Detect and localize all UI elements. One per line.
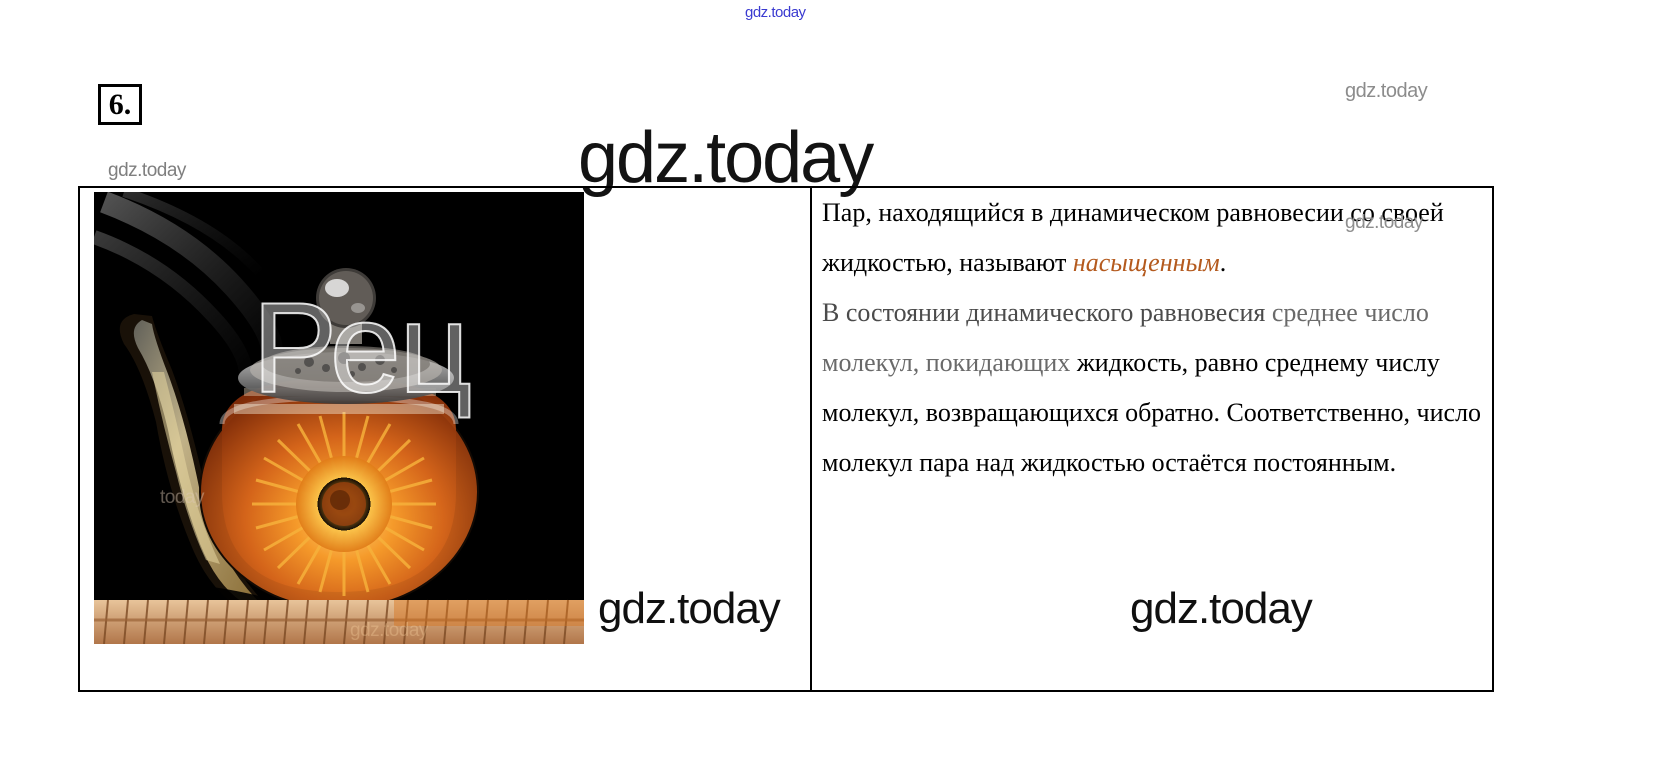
answer-paragraph-1: Пар, находящийся в динамическом равновес…	[822, 188, 1490, 288]
answer-paragraph-2: В состоянии динамического равновесия сре…	[822, 288, 1490, 488]
watermark-top: gdz.today	[745, 4, 806, 21]
watermark-above-photo: gdz.today	[108, 160, 186, 182]
answer-term-period: .	[1220, 248, 1227, 277]
answer-line-2a: В состоянии динамического равновесия	[822, 298, 1265, 327]
answer-term: насыщенным	[1073, 248, 1220, 277]
watermark-top-right: gdz.today	[1345, 80, 1427, 103]
task-number-box: 6.	[98, 84, 142, 125]
teapot-illustration	[94, 192, 584, 644]
table-column-divider	[810, 186, 812, 692]
teapot-photo	[94, 192, 584, 644]
answer-text: Пар, находящийся в динамическом равновес…	[822, 188, 1490, 488]
